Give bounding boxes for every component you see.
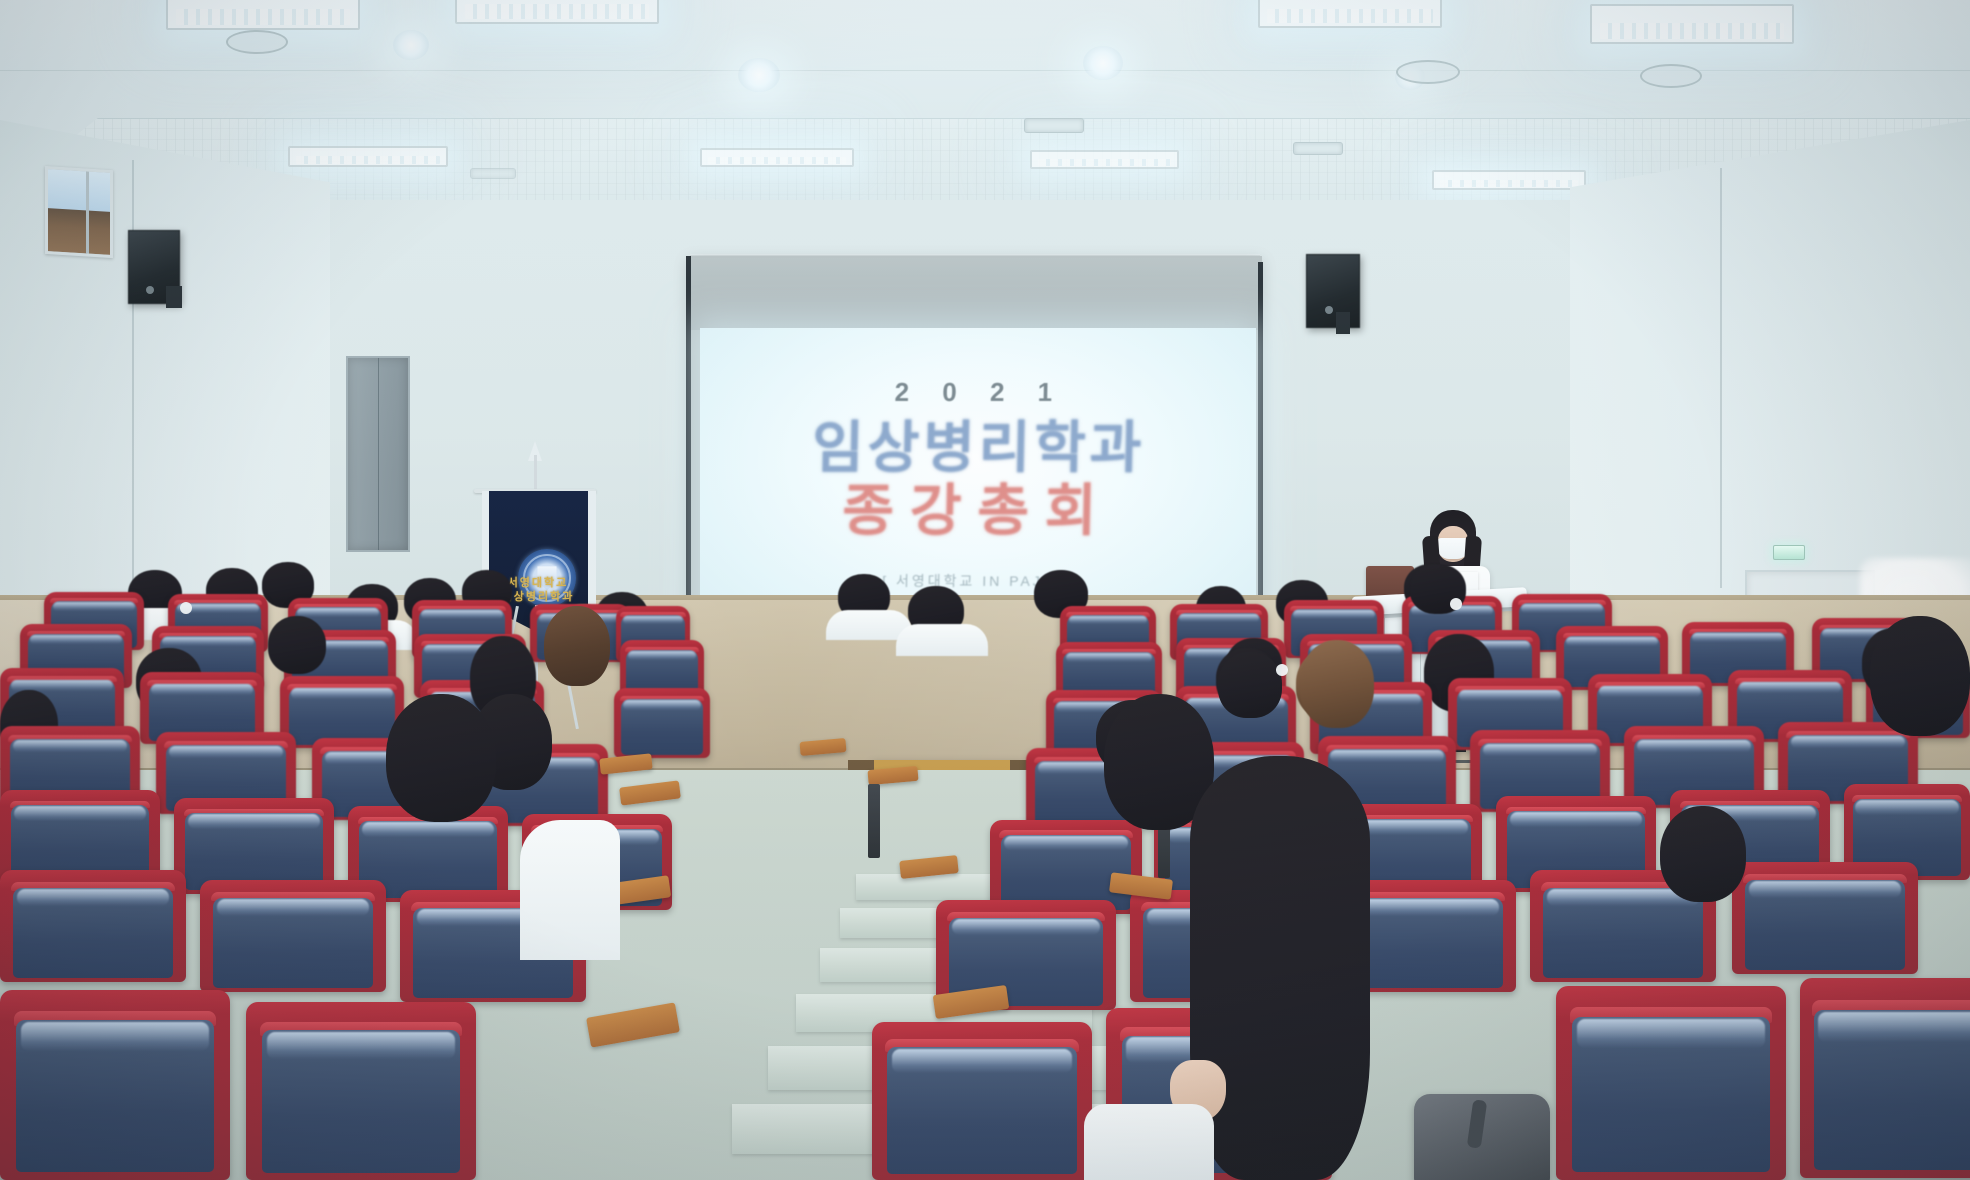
ceiling-air-vent-icon — [1024, 118, 1084, 133]
stage-side-door-left[interactable] — [346, 356, 410, 552]
ceiling-air-vent-icon — [1396, 60, 1460, 84]
ceiling-air-vent-icon — [1640, 64, 1702, 88]
window-mullion — [86, 171, 89, 253]
fluorescent-troffer-icon — [700, 148, 854, 167]
audience-head-foreground-right — [1190, 756, 1370, 1180]
speaker-driver-icon — [146, 286, 154, 294]
audience-shoulders — [896, 624, 988, 656]
audience-head — [1300, 640, 1374, 728]
seat-support-post — [868, 784, 880, 858]
recessed-downlight-icon — [1083, 46, 1123, 80]
speaker-bracket — [1336, 312, 1350, 334]
exterior-window — [45, 166, 113, 258]
slide-year: 2 0 2 1 — [894, 377, 1065, 408]
audience-head — [544, 606, 610, 686]
auditorium-seat[interactable] — [200, 880, 386, 992]
speaker-bracket — [166, 286, 182, 308]
auditorium-seat[interactable] — [872, 1022, 1092, 1180]
fluorescent-troffer-icon — [1258, 0, 1442, 28]
speaker-driver-icon — [1325, 306, 1333, 314]
face-mask-icon — [1276, 664, 1288, 676]
screen-masking-band — [691, 258, 1259, 330]
fluorescent-troffer-icon — [1590, 4, 1794, 44]
ceiling-air-vent-icon — [1293, 142, 1343, 155]
face-mask-icon — [1450, 598, 1462, 610]
auditorium-seat[interactable] — [614, 688, 710, 758]
auditorium-seat[interactable] — [0, 990, 230, 1180]
fluorescent-troffer-icon — [455, 0, 659, 24]
recessed-downlight-icon — [393, 30, 429, 60]
audience-head — [1870, 616, 1970, 736]
wall-speaker-right-icon — [1306, 254, 1360, 328]
audience-head — [1660, 806, 1746, 902]
auditorium-seat[interactable] — [1800, 978, 1970, 1178]
fluorescent-troffer-icon — [1030, 150, 1179, 169]
screen-edge-left — [686, 256, 691, 648]
auditorium-seat[interactable] — [1556, 986, 1786, 1180]
wall-corner-seam — [1720, 168, 1722, 588]
fluorescent-troffer-icon — [1432, 170, 1586, 190]
ceiling-air-vent-icon — [226, 30, 288, 54]
door-leaf — [348, 358, 379, 550]
emergency-exit-sign-icon — [1773, 545, 1805, 560]
audience-shoulders-foreground-left — [520, 820, 620, 960]
slide-title-line1: 임상병리학과 — [812, 418, 1146, 477]
fluorescent-troffer-icon — [288, 146, 448, 167]
slide-title-line2: 종강총회 — [842, 479, 1113, 543]
auditorium-seat[interactable] — [246, 1002, 476, 1180]
projected-slide: 2 0 2 1 임상병리학과 종강총회 [ 서영대학교 IN PAJU ] — [700, 328, 1256, 640]
ceiling-air-vent-icon — [470, 168, 516, 179]
auditorium-seat[interactable] — [1732, 862, 1918, 974]
auditorium-seat[interactable] — [0, 870, 186, 982]
face-mask-icon — [180, 602, 192, 614]
window-trees — [48, 208, 110, 254]
audience-head — [268, 616, 326, 674]
audience-shoulders-foreground-right — [1084, 1104, 1214, 1180]
screen-edge-right — [1258, 262, 1263, 648]
audience-head-foreground-left — [386, 694, 496, 822]
recessed-downlight-icon — [738, 58, 780, 92]
auditorium-photo: 2 0 2 1 임상병리학과 종강총회 [ 서영대학교 IN PAJU ] 서영… — [0, 0, 1970, 1180]
fluorescent-troffer-icon — [166, 0, 360, 30]
audience-head — [1218, 652, 1282, 718]
